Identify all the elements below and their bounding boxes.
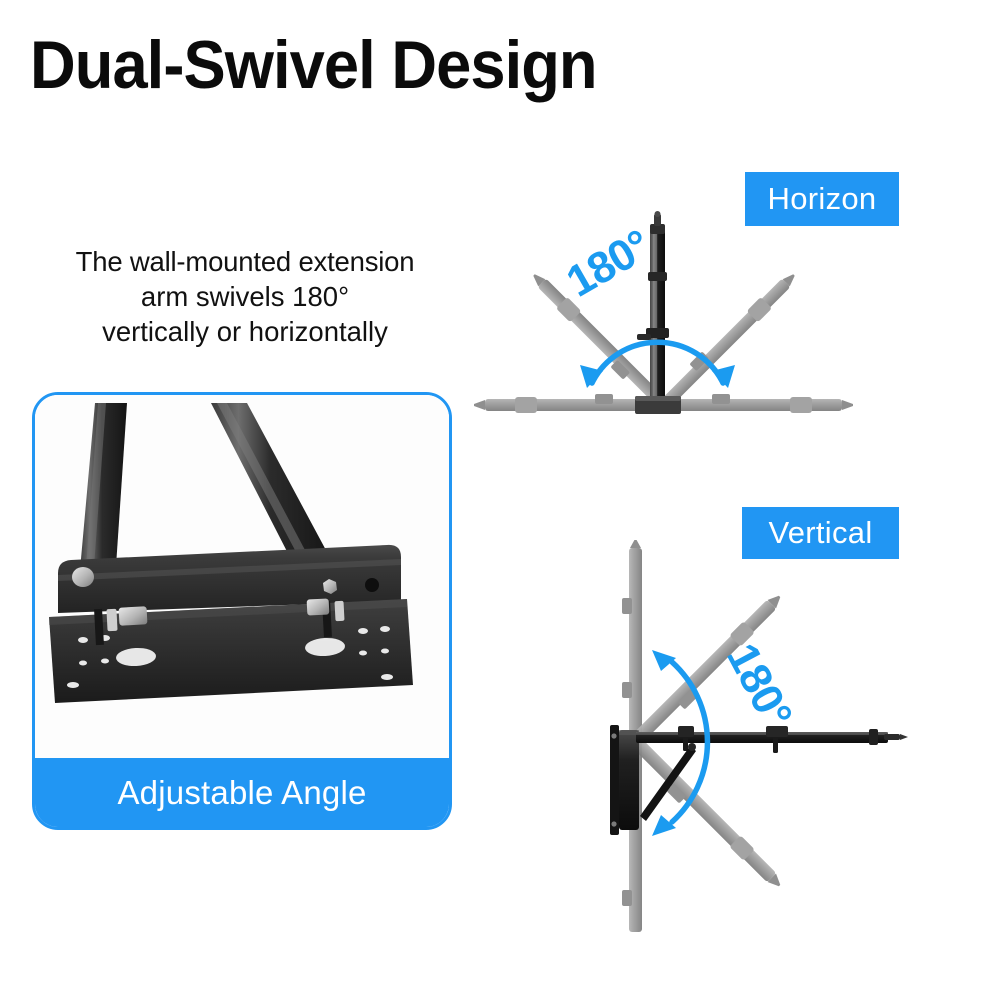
ghost-arm-diagonal-upper-right (658, 267, 799, 408)
arc-arrowhead-top (652, 650, 676, 671)
pole-lock-lever (637, 334, 651, 340)
wall-mount-bracket (610, 725, 639, 835)
pivot-bolt-left (72, 567, 94, 587)
mounting-bracket-illustration (35, 395, 449, 763)
description-line-1: The wall-mounted extension (24, 244, 466, 279)
description-line-3: vertically or horizontally (24, 314, 466, 349)
bracket-body (619, 730, 639, 830)
diagram-vertical-swivel: 180° (580, 540, 1000, 940)
product-photo-panel: Adjustable Angle (32, 392, 452, 830)
angle-label-horizontal: 180° (559, 221, 659, 307)
description-text: The wall-mounted extension arm swivels 1… (24, 244, 466, 350)
ghost-arm-horizontal-left (474, 394, 655, 413)
vertical-swivel-svg: 180° (580, 540, 1000, 940)
bar-hole (365, 578, 379, 592)
ghost-arm-horizontal-right (670, 394, 853, 413)
infographic-page: Dual-Swivel Design The wall-mounted exte… (0, 0, 1000, 1000)
product-photo (35, 395, 449, 763)
panel-caption: Adjustable Angle (34, 758, 450, 828)
arm-end-tip (884, 734, 900, 740)
extension-arm-horizontal (636, 726, 908, 753)
page-title: Dual-Swivel Design (30, 30, 774, 101)
description-line-2: arm swivels 180° (24, 279, 466, 314)
wall-plate (610, 725, 619, 835)
diagram-horizontal-swivel: 180° (470, 210, 1000, 455)
horizontal-swivel-svg: 180° (470, 210, 1000, 455)
arm-knob-inner (678, 726, 694, 737)
